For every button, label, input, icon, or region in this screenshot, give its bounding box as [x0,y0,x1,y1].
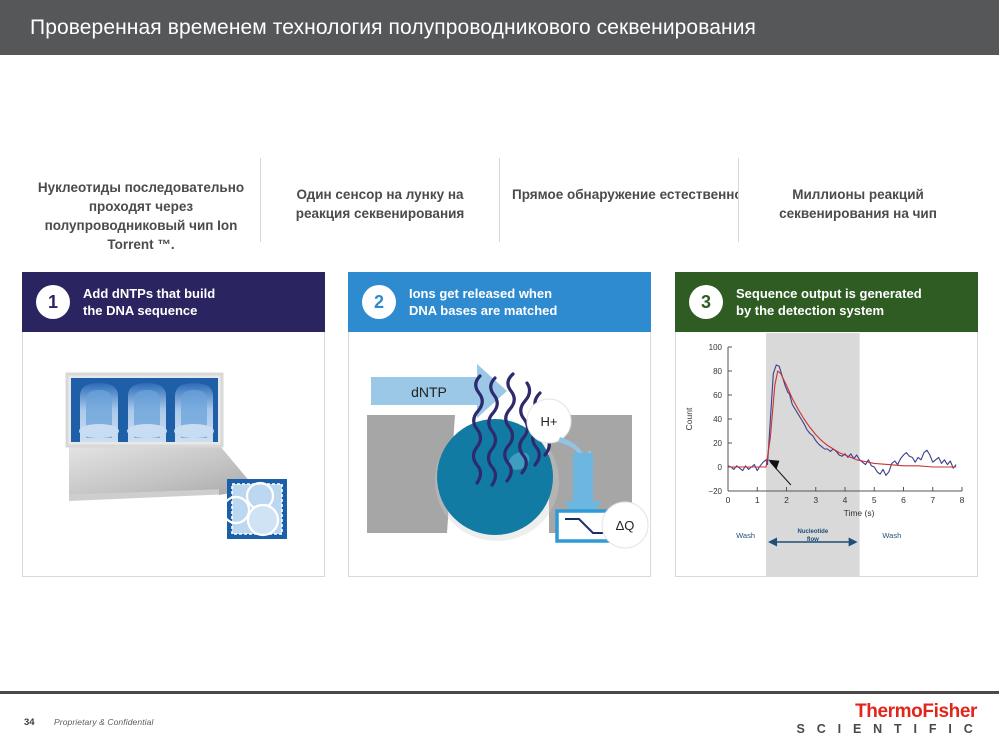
panel-2-title: Ions get released when DNA bases are mat… [409,285,557,320]
panel-3-title: Sequence output is generated by the dete… [736,285,922,320]
panel-2-title-line2: DNA bases are matched [409,302,557,319]
x-tick-label: 0 [726,495,731,505]
footer-divider [0,691,999,694]
x-tick-label: 5 [872,495,877,505]
caption-column-4: Миллионы реакций секвенирования на чип [738,158,977,242]
ion-release-illustration: H+ ΔQ dNTP [349,333,650,576]
panel-1-title: Add dNTPs that build the DNA sequence [83,285,215,320]
panel-3-title-line1: Sequence output is generated [736,285,922,302]
x-tick-label: 2 [784,495,789,505]
panel-3-header: 3 Sequence output is generated by the de… [675,272,978,332]
y-tick-label: 40 [713,415,722,424]
x-tick-label: 6 [901,495,906,505]
chip-wells-zoom-illustration [23,333,324,576]
panel-2-number-badge: 2 [362,285,396,319]
thermofisher-logo: ThermoFisher S C I E N T I F I C [796,702,977,738]
annotation-nucleotide-flow: Nucleotide [797,529,828,535]
panel-step-1: 1 Add dNTPs that build the DNA sequence [22,272,325,577]
confidentiality-notice: Proprietary & Confidential [54,717,153,727]
annotation-wash-right: Wash [882,531,901,540]
logo-subtitle: S C I E N T I F I C [796,722,977,738]
slide: Проверенная временем технология полупров… [0,0,999,749]
panel-2-header: 2 Ions get released when DNA bases are m… [348,272,651,332]
logo-wordmark: ThermoFisher [796,702,977,721]
panel-1-title-line2: the DNA sequence [83,302,215,319]
y-tick-label: 20 [713,439,722,448]
annotation-wash-left: Wash [736,531,755,540]
caption-column-1: Нуклеотиды последовательно проходят чере… [22,158,260,242]
panel-3-figure: −20020406080100012345678Time (s)CountWas… [676,333,977,576]
panel-row: 1 Add dNTPs that build the DNA sequence [22,272,978,577]
y-tick-label: 0 [718,463,723,472]
page-number: 34 [24,717,35,728]
y-tick-label: 60 [713,391,722,400]
panel-3-number-badge: 3 [689,285,723,319]
panel-2-title-line1: Ions get released when [409,285,557,302]
panel-2-figure: H+ ΔQ dNTP [349,333,650,576]
panel-step-3: 3 Sequence output is generated by the de… [675,272,978,577]
caption-text: Миллионы реакций секвенирования на чип [751,158,965,223]
caption-row: Нуклеотиды последовательно проходят чере… [22,158,977,242]
x-tick-label: 1 [755,495,760,505]
panel-1-header: 1 Add dNTPs that build the DNA sequence [22,272,325,332]
caption-column-2: Один сенсор на лунку на реакция секвенир… [260,158,499,242]
y-tick-label: 100 [709,343,723,352]
caption-text: Нуклеотиды последовательно проходят чере… [34,158,248,255]
caption-text: Один сенсор на лунку на реакция секвенир… [273,158,487,223]
panel-3-title-line2: by the detection system [736,302,922,319]
x-tick-label: 3 [813,495,818,505]
page-title: Проверенная временем технология полупров… [30,0,756,55]
count-vs-time-chart: −20020406080100012345678Time (s)CountWas… [676,333,977,576]
y-tick-label: −20 [708,487,722,496]
y-axis-label: Count [684,407,694,430]
y-tick-label: 80 [713,367,722,376]
panel-1-number-badge: 1 [36,285,70,319]
panel-step-2: 2 Ions get released when DNA bases are m… [348,272,651,577]
panel-1-title-line1: Add dNTPs that build [83,285,215,302]
charge-label: ΔQ [616,518,635,533]
x-axis-label: Time (s) [844,508,875,518]
x-tick-label: 8 [960,495,965,505]
proton-label: H+ [541,414,558,429]
slide-title-bar: Проверенная временем технология полупров… [0,0,999,55]
caption-text: Прямое обнаружение естественного удлинен… [512,158,726,204]
x-tick-label: 7 [930,495,935,505]
x-tick-label: 4 [843,495,848,505]
panel-1-figure [23,333,324,576]
caption-column-3: Прямое обнаружение естественного удлинен… [499,158,738,242]
dntp-label: dNTP [411,384,447,400]
